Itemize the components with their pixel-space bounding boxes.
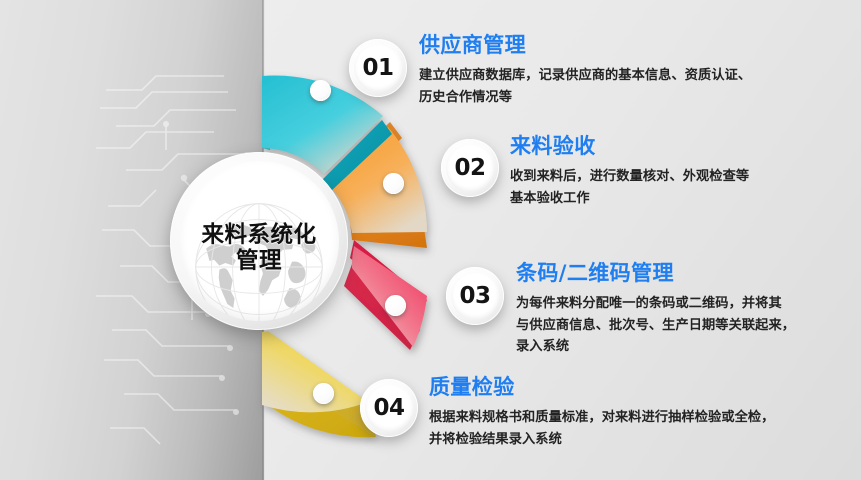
step-title-03: 条码/二维码管理 [516,261,856,286]
center-hub: 来料系统化 管理 [170,152,348,330]
connector-dot-3 [385,295,406,316]
step-title-04: 质量检验 [429,375,854,400]
step-badge-01[interactable]: 01 [349,39,407,97]
step-desc-03: 为每件来料分配唯一的条码或二维码，并将其 与供应商信息、批次号、生产日期等关联起… [516,293,856,357]
step-desc-02: 收到来料后，进行数量核对、外观检查等 基本验收工作 [510,166,855,209]
step-desc-03-line3: 录入系统 [516,336,856,357]
step-number-01: 01 [362,55,393,81]
step-number-02: 02 [454,155,485,181]
connector-dot-2 [383,173,404,194]
step-desc-04: 根据来料规格书和质量标准，对来料进行抽样检验或全检， 并将检验结果录入系统 [429,407,854,450]
step-desc-03-line2: 与供应商信息、批次号、生产日期等关联起来， [516,315,856,336]
center-hub-title-line2: 管理 [201,248,316,274]
step-title-01: 供应商管理 [419,33,849,58]
step-badge-02[interactable]: 02 [441,139,499,197]
step-desc-01-line2: 历史合作情况等 [419,87,849,108]
step-badge-04[interactable]: 04 [360,379,418,437]
step-desc-04-line2: 并将检验结果录入系统 [429,429,854,450]
step-badge-03[interactable]: 03 [446,267,504,325]
step-item-02: 来料验收 收到来料后，进行数量核对、外观检查等 基本验收工作 [510,134,855,209]
step-item-01: 供应商管理 建立供应商数据库，记录供应商的基本信息、资质认证、 历史合作情况等 [419,33,849,108]
step-desc-04-line1: 根据来料规格书和质量标准，对来料进行抽样检验或全检， [429,407,854,428]
step-desc-01-line1: 建立供应商数据库，记录供应商的基本信息、资质认证、 [419,65,849,86]
center-hub-title-line1: 来料系统化 [201,222,316,248]
connector-dot-1 [310,80,331,101]
step-item-03: 条码/二维码管理 为每件来料分配唯一的条码或二维码，并将其 与供应商信息、批次号… [516,261,856,357]
step-title-02: 来料验收 [510,134,855,159]
step-number-04: 04 [373,395,404,421]
step-item-04: 质量检验 根据来料规格书和质量标准，对来料进行抽样检验或全检， 并将检验结果录入… [429,375,854,450]
infographic-slide: 来料系统化 管理 01 供应商管理 建立供应商数据库，记录供应商的基本信息、资质… [0,0,861,480]
step-desc-03-line1: 为每件来料分配唯一的条码或二维码，并将其 [516,293,856,314]
center-hub-title: 来料系统化 管理 [201,208,316,275]
step-number-03: 03 [459,283,490,309]
step-desc-02-line2: 基本验收工作 [510,188,855,209]
step-desc-01: 建立供应商数据库，记录供应商的基本信息、资质认证、 历史合作情况等 [419,65,849,108]
center-hub-inner: 来料系统化 管理 [179,161,339,321]
connector-dot-4 [313,383,334,404]
step-desc-02-line1: 收到来料后，进行数量核对、外观检查等 [510,166,855,187]
